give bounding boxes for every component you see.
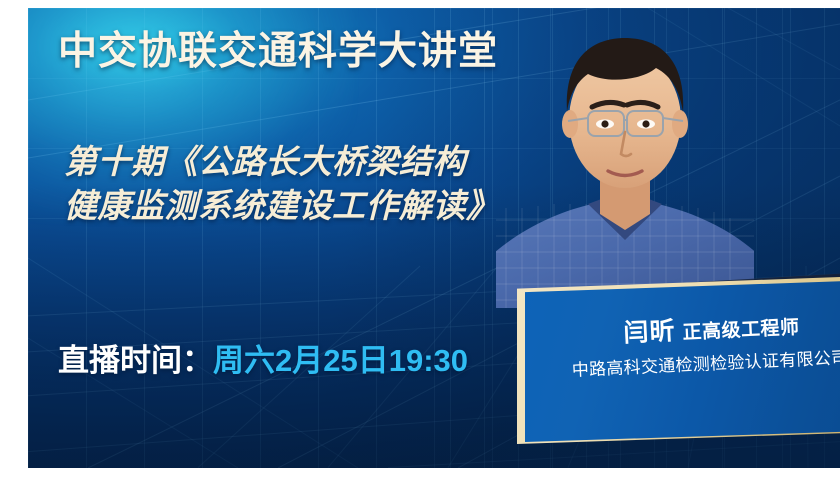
airtime-label: 直播时间： xyxy=(58,343,213,378)
livestream-poster: 中交协联交通科学大讲堂 第十期《公路长大桥梁结构 健康监测系统建设工作解读》 直… xyxy=(28,8,840,468)
speaker-title: 正高级工程师 xyxy=(682,317,800,343)
speaker-card-content: 闫昕正高级工程师 中路高科交通检测检验认证有限公司 xyxy=(525,264,840,442)
episode-subtitle: 第十期《公路长大桥梁结构 健康监测系统建设工作解读》 xyxy=(64,140,594,227)
airtime-row: 直播时间：周六2月25日19:30 xyxy=(58,335,468,380)
speaker-name: 闫昕 xyxy=(623,317,676,347)
airtime-value: 周六2月25日19:30 xyxy=(213,343,468,378)
subtitle-line-2: 健康监测系统建设工作解读》 xyxy=(64,184,594,228)
subtitle-line-1: 第十期《公路长大桥梁结构 xyxy=(64,143,466,180)
page-title: 中交协联交通科学大讲堂 xyxy=(58,32,498,73)
